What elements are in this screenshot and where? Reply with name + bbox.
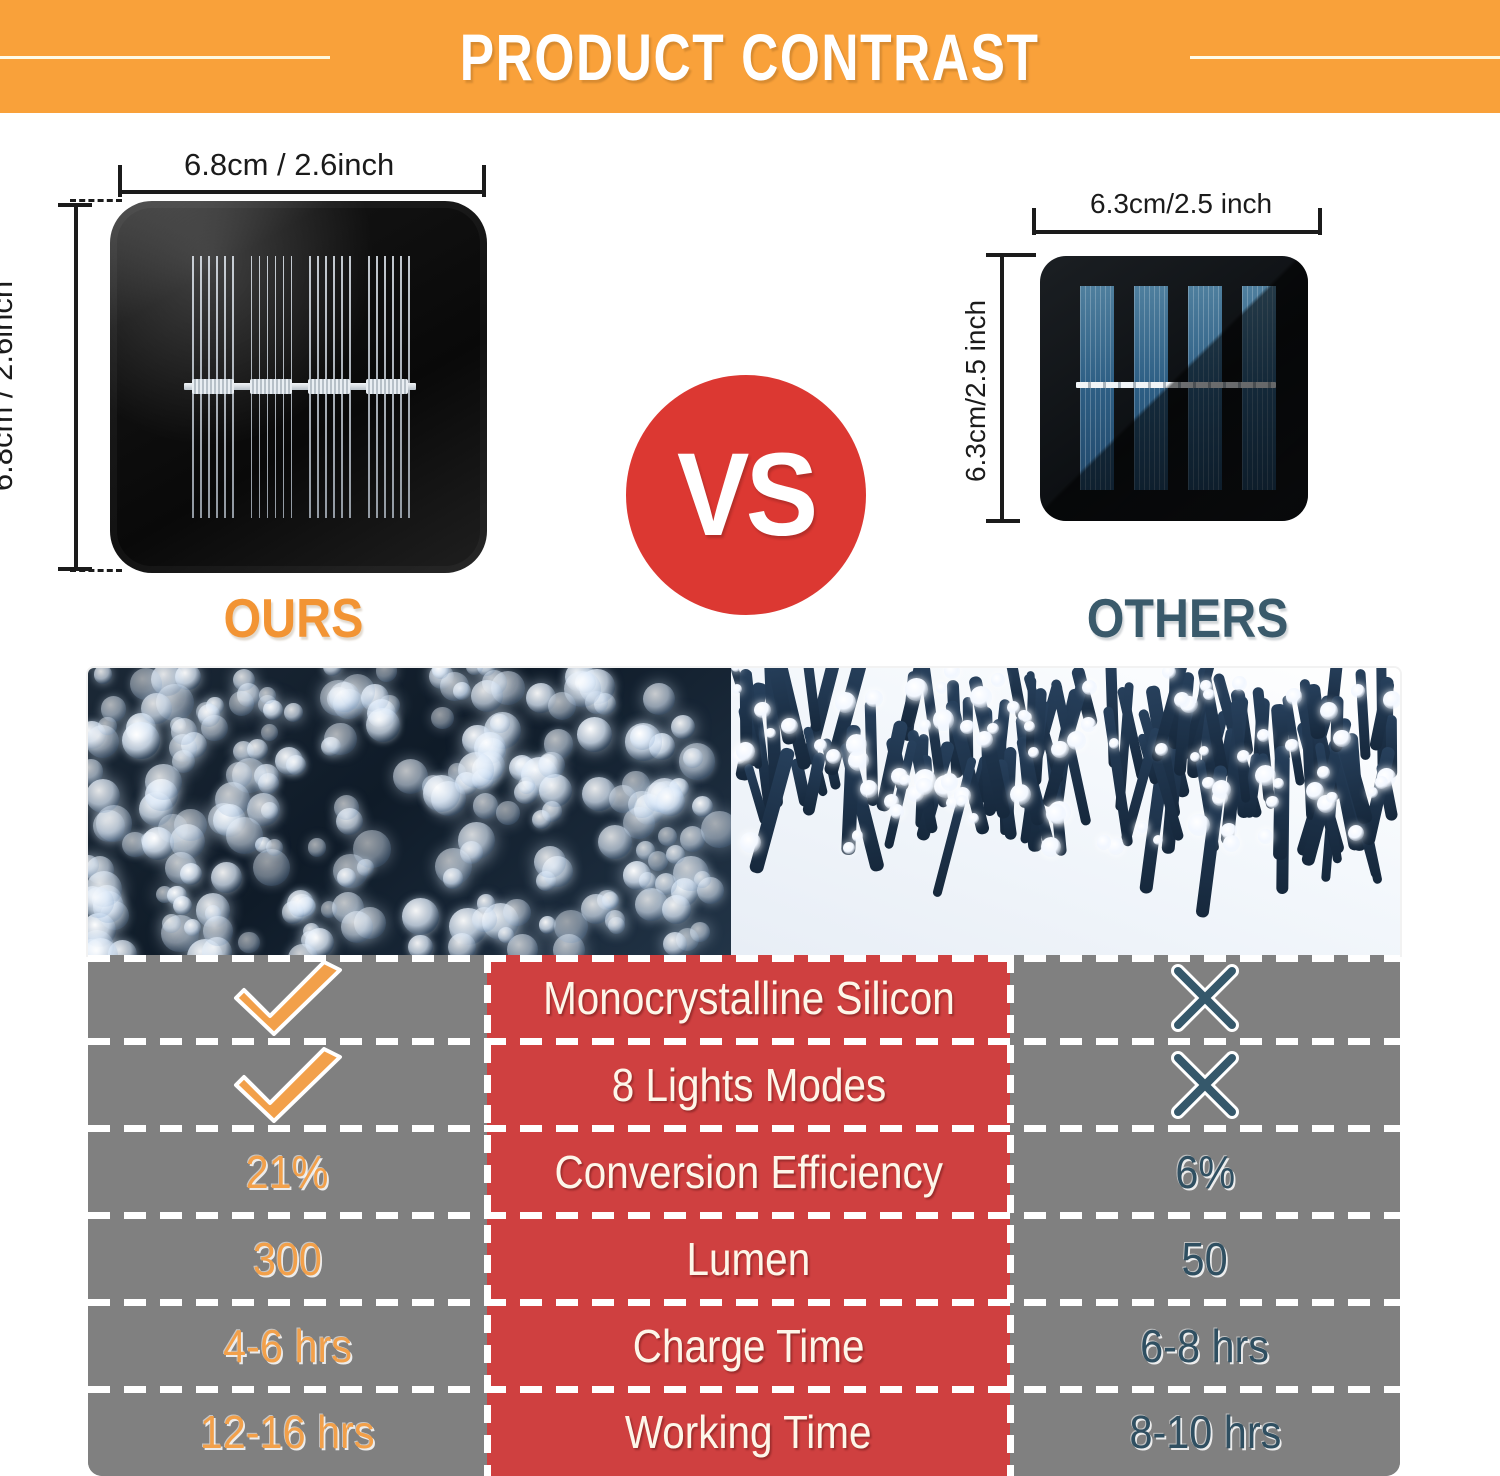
led-bulb (598, 825, 632, 859)
feature-label: Working Time (625, 1405, 872, 1459)
others-value-cell: 50 (1010, 1215, 1400, 1302)
led-bulb (162, 914, 180, 932)
others-height-dimension-label: 6.3cm/2.5 inch (960, 300, 992, 482)
led-bulb (198, 704, 221, 727)
check-icon (228, 1047, 348, 1123)
table-row: 300Lumen50 (88, 1215, 1400, 1302)
led-bulb (608, 917, 625, 934)
feature-name-cell: Working Time (487, 1389, 1010, 1476)
ours-width-tick-right (482, 165, 486, 197)
led-bulb (308, 838, 327, 857)
led-bulb (1223, 835, 1240, 852)
table-top-divider (88, 955, 1400, 962)
led-bulb (765, 728, 775, 738)
led-bulb (261, 724, 278, 741)
others-height-tick-bottom (986, 519, 1020, 523)
ours-solder-2 (250, 379, 292, 394)
others-value: 6-8 hrs (1141, 1319, 1270, 1373)
column-divider-2 (1007, 955, 1014, 1476)
others-height-tick-top (986, 253, 1036, 257)
led-bulb (458, 752, 494, 788)
led-bulb (1367, 787, 1378, 798)
ours-width-rule (118, 190, 486, 194)
led-bulb (609, 785, 637, 813)
vs-badge: VS (626, 375, 866, 615)
led-bulb (259, 687, 276, 704)
others-width-tick-right (1318, 208, 1322, 235)
led-bulb (554, 910, 587, 943)
others-led-photo (731, 668, 1400, 955)
table-row: Monocrystalline Silicon (88, 955, 1400, 1042)
led-bulb (890, 804, 905, 819)
others-value-cell (1010, 955, 1400, 1042)
cross-icon (1168, 961, 1242, 1035)
led-bulb (1067, 731, 1086, 750)
led-bulb (173, 896, 192, 915)
led-bulb (1190, 752, 1200, 762)
row-divider (88, 1125, 1400, 1132)
row-divider (88, 1299, 1400, 1306)
feature-name-cell: Monocrystalline Silicon (487, 955, 1010, 1042)
ours-height-dimension-label: 6.8cm / 2.6inch (0, 281, 20, 491)
led-bulb (532, 810, 551, 829)
feature-label: Monocrystalline Silicon (543, 971, 955, 1025)
led-bulb (284, 703, 303, 722)
led-bulb (88, 779, 120, 813)
led-bulb (431, 707, 454, 730)
led-bulb (1286, 688, 1303, 705)
feature-name-cell: 8 Lights Modes (487, 1042, 1010, 1129)
led-bulb (122, 722, 159, 759)
header-rule-right (1190, 56, 1500, 59)
ours-height-rule (74, 203, 78, 571)
led-bulb (1212, 780, 1231, 799)
led-bulb (736, 742, 755, 761)
led-bulb (334, 795, 359, 820)
led-bulb (1097, 835, 1112, 850)
led-bulb (266, 839, 283, 856)
led-bulb (905, 678, 927, 700)
ours-solder-3 (308, 379, 350, 394)
ours-led-photo (88, 668, 731, 955)
led-bulb (630, 725, 655, 750)
led-bulb (1174, 692, 1190, 708)
ours-value: 4-6 hrs (223, 1319, 352, 1373)
led-bulb (211, 862, 242, 893)
led-bulb (826, 749, 841, 764)
others-value-cell: 6-8 hrs (1010, 1302, 1400, 1389)
led-bulb (843, 842, 855, 854)
header-banner: PRODUCT CONTRAST (0, 0, 1500, 113)
led-bulb (1326, 792, 1338, 804)
led-bulb (443, 868, 464, 889)
led-bulb (321, 901, 337, 917)
others-height-rule (1000, 253, 1004, 523)
led-bulb (1285, 739, 1298, 752)
feature-name-cell: Conversion Efficiency (487, 1129, 1010, 1216)
page-title: PRODUCT CONTRAST (449, 19, 1051, 95)
led-bulb (623, 861, 651, 889)
led-bulb (960, 720, 974, 734)
others-value-cell: 6% (1010, 1129, 1400, 1216)
led-bulb (956, 795, 968, 807)
check-icon (228, 960, 348, 1036)
led-bulb (671, 715, 695, 739)
led-bulb (329, 682, 359, 712)
led-bulb (287, 890, 314, 917)
ours-value-cell (88, 955, 487, 1042)
led-bulb (423, 775, 460, 812)
feature-label: Conversion Efficiency (554, 1145, 943, 1199)
led-bulb (1046, 804, 1066, 824)
row-divider (88, 1212, 1400, 1219)
led-bulb (694, 871, 711, 888)
table-row: 21%Conversion Efficiency6% (88, 1129, 1400, 1216)
ours-value: 12-16 hrs (200, 1405, 375, 1459)
led-bulb (548, 692, 576, 720)
led-bulb (180, 863, 202, 885)
led-bulb (1051, 741, 1068, 758)
led-bulb (852, 830, 863, 841)
led-bulb (98, 717, 116, 735)
led-bulb (1333, 730, 1351, 748)
others-brand-label: OTHERS (1087, 586, 1289, 650)
led-bulb (1257, 729, 1270, 742)
led-bulb (539, 774, 572, 807)
others-value: 6% (1175, 1145, 1235, 1199)
product-photo-strip (88, 668, 1400, 955)
ours-height-tick-bottom (58, 567, 92, 571)
ours-height-tick-top (58, 203, 92, 207)
led-bulb (353, 830, 391, 868)
led-bulb (1375, 776, 1388, 789)
led-bulb (1081, 717, 1096, 732)
table-row: 12-16 hrsWorking Time8-10 hrs (88, 1389, 1400, 1476)
led-bulb (229, 691, 254, 716)
led-bulb (534, 846, 566, 878)
led-bulb (860, 780, 878, 798)
led-bulb (648, 851, 668, 871)
led-bulb (916, 778, 933, 795)
led-bulb (655, 873, 677, 895)
ours-width-dimension-label: 6.8cm / 2.6inch (184, 147, 394, 183)
led-bulb (865, 690, 882, 707)
led-bulb (471, 680, 503, 712)
led-bulb (662, 895, 691, 924)
led-bulb (258, 773, 279, 794)
led-bulb (448, 933, 476, 955)
led-bulb (1266, 796, 1278, 808)
led-bulb (970, 686, 992, 708)
led-wire (739, 669, 752, 748)
led-bulb (968, 813, 979, 824)
led-bulb (247, 739, 268, 760)
led-bulb (142, 827, 174, 859)
led-bulb (680, 826, 706, 852)
led-bulb (991, 673, 1005, 687)
led-bulb (376, 668, 398, 682)
led-bulb (503, 899, 530, 926)
led-bulb (602, 892, 618, 908)
feature-label: Charge Time (633, 1319, 865, 1373)
panel-comparison-area: 6.8cm / 2.6inch 6.8cm / 2.6inch VS (0, 113, 1500, 668)
led-bulb (174, 809, 206, 841)
led-bulb (538, 752, 564, 778)
led-bulb (976, 731, 993, 748)
vs-label: VS (677, 427, 814, 563)
led-bulb (1383, 691, 1400, 708)
led-bulb (936, 682, 947, 693)
led-bulb (226, 817, 263, 854)
led-bulb (141, 693, 172, 724)
led-bulb (683, 748, 703, 768)
led-bulb (171, 718, 197, 744)
feature-label: 8 Lights Modes (611, 1058, 886, 1112)
ours-value-cell: 4-6 hrs (88, 1302, 487, 1389)
ours-value: 300 (253, 1232, 322, 1286)
others-solar-panel (1040, 256, 1308, 521)
ours-extension-top (70, 199, 122, 202)
ours-value-cell: 21% (88, 1129, 487, 1216)
led-bulb (1237, 750, 1250, 763)
led-bulb (1188, 814, 1210, 836)
led-bulb (94, 668, 113, 684)
others-width-rule (1032, 230, 1322, 234)
others-value: 8-10 hrs (1129, 1405, 1281, 1459)
others-value: 50 (1182, 1232, 1228, 1286)
led-bulb (781, 718, 798, 735)
led-bulb (175, 668, 201, 690)
led-bulb (490, 714, 510, 734)
led-bulb (814, 739, 827, 752)
feature-name-cell: Charge Time (487, 1302, 1010, 1389)
led-bulb (324, 723, 356, 755)
product-contrast-infographic: PRODUCT CONTRAST 6.8cm / 2.6inch 6.8cm /… (0, 0, 1500, 1476)
ours-solar-panel (110, 201, 487, 573)
column-divider-1 (484, 955, 491, 1476)
led-bulb (1232, 676, 1247, 691)
led-bulb (1018, 710, 1030, 722)
table-row: 8 Lights Modes (88, 1042, 1400, 1129)
led-bulb (1041, 837, 1061, 857)
led-bulb (658, 827, 677, 846)
others-width-tick-left (1032, 208, 1036, 235)
led-bulb (846, 734, 867, 755)
ours-value: 21% (246, 1145, 329, 1199)
ours-value-cell: 300 (88, 1215, 487, 1302)
header-rule-left (0, 56, 330, 59)
cross-icon (1168, 1048, 1242, 1122)
others-shadow-overlay (1040, 256, 1308, 521)
ours-width-tick-left (118, 165, 122, 197)
led-bulb (286, 755, 306, 775)
led-bulb (577, 717, 612, 752)
led-bulb (933, 709, 954, 730)
row-divider (88, 1386, 1400, 1393)
led-bulb (701, 811, 731, 847)
led-bulb (460, 841, 483, 864)
led-bulb (472, 907, 497, 932)
led-bulb (203, 916, 233, 946)
led-bulb (1109, 738, 1119, 748)
led-bulb (835, 692, 856, 713)
led-bulb (643, 683, 675, 715)
led-bulb (1082, 680, 1097, 695)
led-bulb (215, 782, 250, 817)
led-bulb (498, 927, 514, 943)
table-row: 4-6 hrsCharge Time6-8 hrs (88, 1302, 1400, 1389)
led-bulb (323, 668, 342, 676)
led-bulb (1155, 743, 1168, 756)
led-bulb (944, 668, 960, 679)
led-bulb (473, 793, 498, 818)
feature-name-cell: Lumen (487, 1215, 1010, 1302)
led-bulb (184, 919, 202, 937)
led-bulb (88, 938, 118, 955)
led-bulb (899, 774, 911, 786)
others-value-cell (1010, 1042, 1400, 1129)
led-bulb (754, 702, 770, 718)
led-bulb (366, 708, 400, 742)
led-bulb (1317, 766, 1330, 779)
led-bulb (145, 764, 182, 801)
ours-value-cell (88, 1042, 487, 1129)
led-bulb (656, 787, 685, 816)
ours-solder-4 (366, 379, 408, 394)
led-bulb (1258, 829, 1273, 844)
comparison-table: Monocrystalline Silicon8 Lights Modes21%… (88, 955, 1400, 1476)
led-bulb (663, 932, 687, 955)
led-bulb (740, 832, 761, 853)
others-width-dimension-label: 6.3cm/2.5 inch (1090, 188, 1272, 220)
led-bulb (496, 801, 520, 825)
led-bulb (88, 668, 92, 672)
row-divider (88, 1038, 1400, 1045)
ours-brand-label: OURS (224, 586, 364, 650)
led-bulb (692, 796, 713, 817)
others-value-cell: 8-10 hrs (1010, 1389, 1400, 1476)
led-bulb (238, 932, 260, 954)
led-bulb (402, 898, 439, 935)
ours-solder-1 (192, 379, 234, 394)
ours-value-cell: 12-16 hrs (88, 1389, 487, 1476)
feature-label: Lumen (687, 1232, 811, 1286)
led-bulb (408, 935, 433, 955)
led-bulb (919, 719, 931, 731)
